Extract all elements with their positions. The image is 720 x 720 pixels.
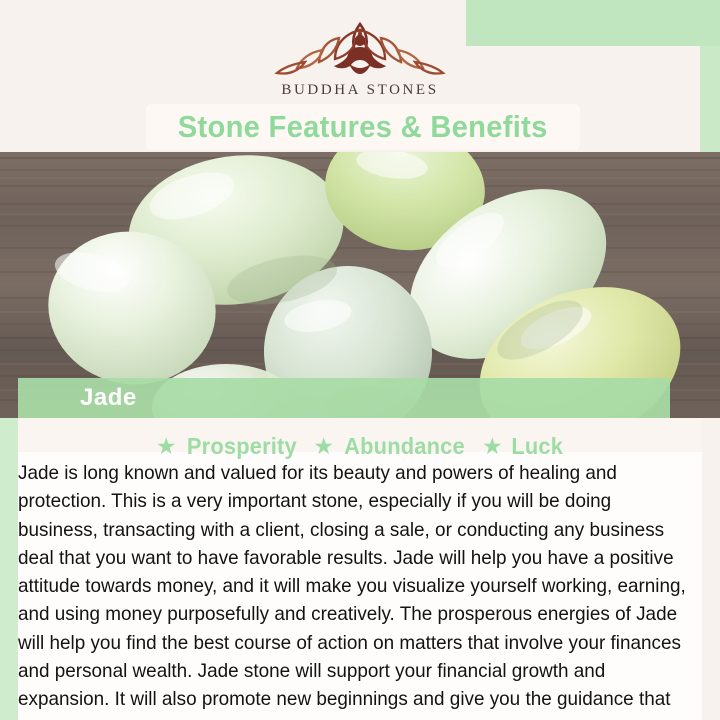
page-title-banner: Stone Features & Benefits	[146, 104, 580, 150]
stone-name: Jade	[80, 384, 137, 412]
stone-name-banner: Jade	[18, 378, 670, 418]
brand-logo: BUDDHA STONES	[0, 14, 720, 106]
keyword-label: Prosperity	[186, 433, 296, 460]
stone-info-card: BUDDHA STONES	[0, 0, 720, 720]
keyword-label: Luck	[511, 433, 563, 460]
keyword-item-prosperity: ★ Prosperity	[156, 433, 299, 460]
star-icon: ★	[482, 435, 503, 458]
keyword-label: Abundance	[344, 433, 465, 460]
star-icon: ★	[156, 435, 177, 458]
page-title: Stone Features & Benefits	[178, 109, 548, 145]
brand-name: BUDDHA STONES	[281, 82, 438, 99]
lotus-meditation-icon	[265, 14, 455, 80]
star-icon: ★	[313, 435, 334, 458]
keyword-item-abundance: ★ Abundance	[313, 433, 468, 460]
keyword-item-luck: ★ Luck	[482, 433, 564, 460]
stone-description: Jade is long known and valued for its be…	[18, 460, 692, 720]
keyword-list: ★ Prosperity ★ Abundance ★ Luck	[0, 430, 720, 462]
